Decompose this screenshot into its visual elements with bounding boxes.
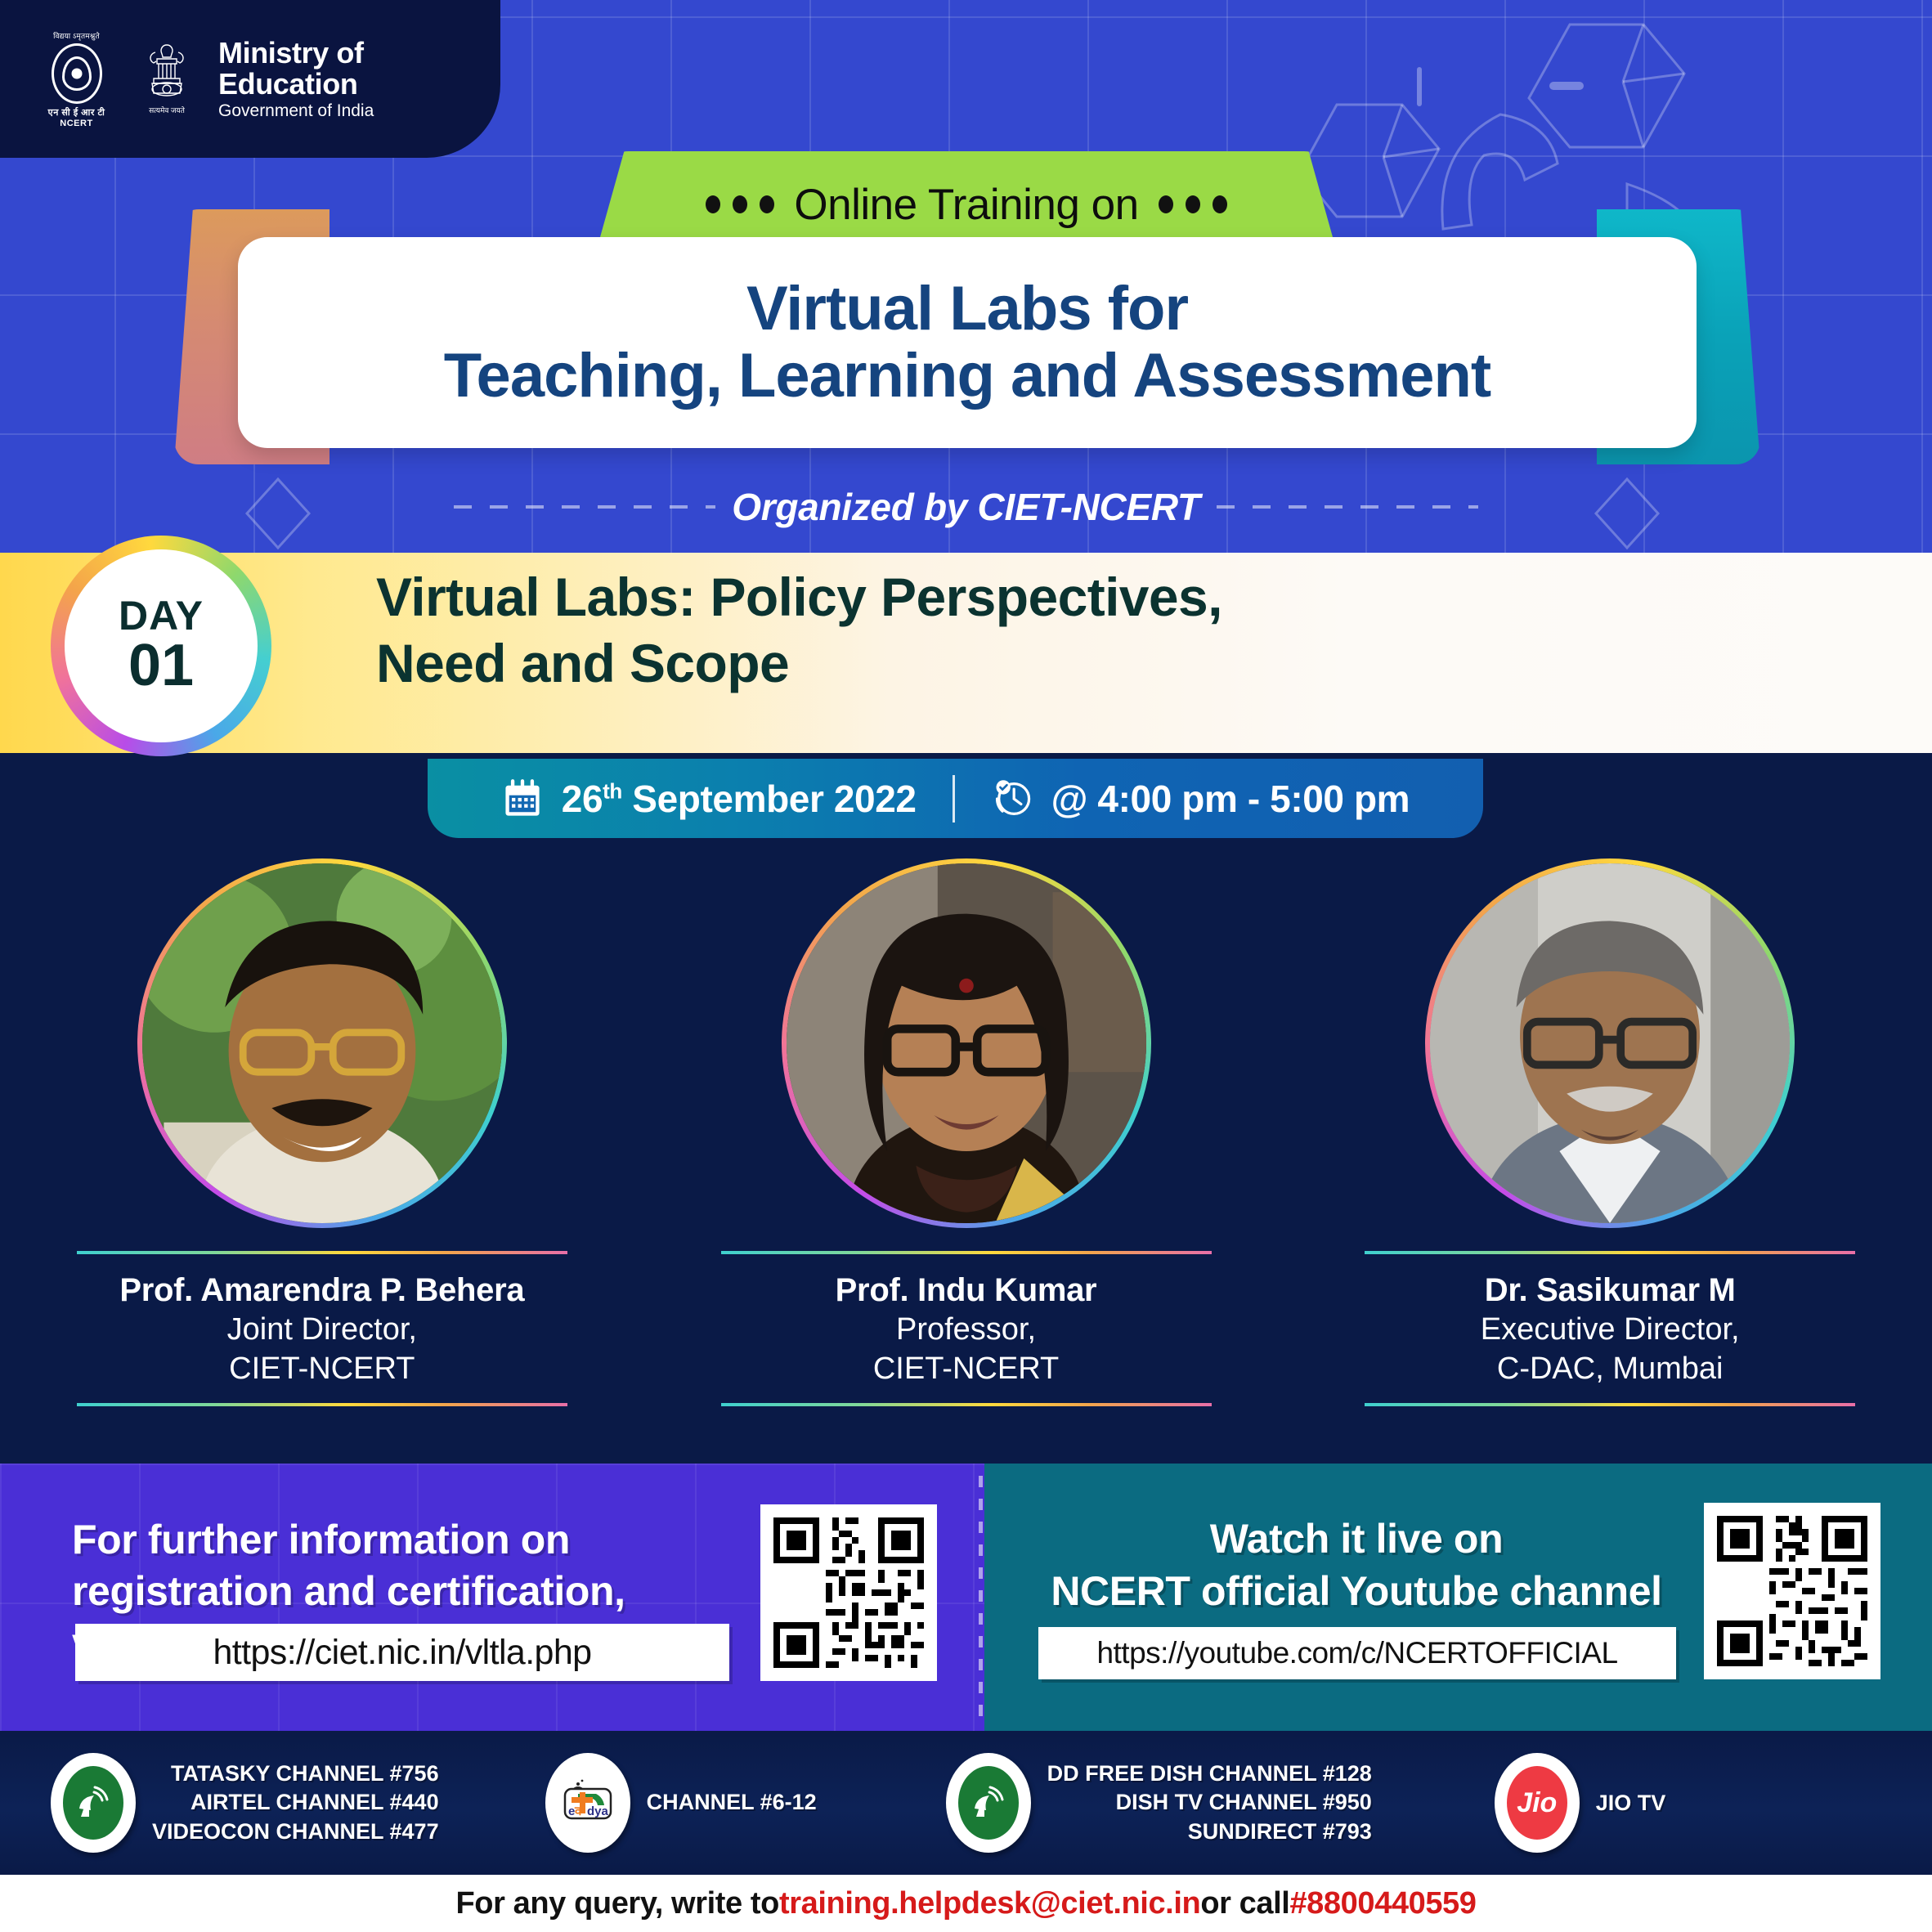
query-prefix: For any query, write to bbox=[455, 1886, 779, 1921]
channel-lines: DD FREE DISH CHANNEL #128 DISH TV CHANNE… bbox=[1047, 1759, 1372, 1847]
india-emblem: सत्यमेव जयते bbox=[137, 43, 197, 115]
channel-group-evidya: e व dya CHANNEL #6-12 bbox=[545, 1753, 817, 1853]
title-card-wrapper: Virtual Labs for Teaching, Learning and … bbox=[174, 209, 1760, 464]
channel-line: JIO TV bbox=[1596, 1791, 1666, 1816]
qr-code-icon[interactable] bbox=[760, 1504, 937, 1681]
poster-root: विद्यया ऽमृतमश्नुते एन सी ई आर टी NCERT bbox=[0, 0, 1932, 1932]
speaker-role-line-2: C-DAC, Mumbai bbox=[1497, 1350, 1724, 1387]
ncert-tagline: विद्यया ऽमृतमश्नुते bbox=[53, 30, 100, 41]
registration-heading-line-1: For further information on bbox=[72, 1514, 726, 1566]
avatar bbox=[787, 863, 1146, 1223]
registration-url-box[interactable]: https://ciet.nic.in/vltla.php bbox=[75, 1624, 729, 1681]
speaker-card: Prof. Indu Kumar Professor, CIET-NCERT bbox=[644, 858, 1289, 1464]
channel-line: VIDEOCON CHANNEL #477 bbox=[152, 1818, 439, 1847]
youtube-heading-line-2: NCERT official Youtube channel bbox=[1017, 1565, 1696, 1617]
speaker-role-line-2: CIET-NCERT bbox=[229, 1350, 415, 1387]
decor-pill bbox=[1549, 82, 1584, 90]
ncert-emblem-icon bbox=[52, 43, 102, 104]
speaker-divider-top bbox=[721, 1251, 1212, 1254]
decor-pill bbox=[1417, 67, 1422, 106]
channels-strip: TATASKY CHANNEL #756 AIRTEL CHANNEL #440… bbox=[0, 1731, 1932, 1875]
speaker-divider-bottom bbox=[721, 1403, 1212, 1406]
speaker-photo-ring bbox=[782, 858, 1151, 1228]
svg-text:व: व bbox=[574, 1804, 582, 1818]
registration-url[interactable]: https://ciet.nic.in/vltla.php bbox=[213, 1633, 591, 1673]
title-line-2: Teaching, Learning and Assessment bbox=[444, 343, 1490, 410]
channel-group-tatasky: TATASKY CHANNEL #756 AIRTEL CHANNEL #440… bbox=[51, 1753, 439, 1853]
speaker-card: Prof. Amarendra P. Behera Joint Director… bbox=[0, 858, 644, 1464]
qr-code-icon[interactable] bbox=[1704, 1503, 1880, 1679]
speaker-divider-top bbox=[77, 1251, 567, 1254]
youtube-url-box[interactable]: https://youtube.com/c/NCERTOFFICIAL bbox=[1038, 1627, 1676, 1679]
helpdesk-email[interactable]: training.helpdesk@ciet.nic.in bbox=[779, 1886, 1200, 1921]
ministry-line-2: Education bbox=[218, 69, 374, 100]
speaker-role-line-1: Executive Director, bbox=[1481, 1311, 1740, 1348]
channel-line: DISH TV CHANNEL #950 bbox=[1047, 1788, 1372, 1818]
ministry-text: Ministry of Education Government of Indi… bbox=[218, 38, 374, 120]
ministry-line-1: Ministry of bbox=[218, 38, 374, 69]
organizer-dash-left bbox=[454, 505, 715, 509]
query-middle: or call bbox=[1200, 1886, 1289, 1921]
channel-line: AIRTEL CHANNEL #440 bbox=[152, 1788, 439, 1818]
day-label: DAY bbox=[119, 595, 204, 636]
title-line-1: Virtual Labs for bbox=[746, 276, 1188, 343]
avatar bbox=[1430, 863, 1790, 1223]
satellite-dish-icon bbox=[946, 1753, 1031, 1853]
day-badge: DAY 01 bbox=[51, 536, 271, 756]
evidya-logo-icon: e व dya bbox=[545, 1753, 630, 1853]
channel-lines: TATASKY CHANNEL #756 AIRTEL CHANNEL #440… bbox=[152, 1759, 439, 1847]
ashoka-lion-capital-icon bbox=[141, 43, 192, 103]
ministry-line-3: Government of India bbox=[218, 102, 374, 120]
speaker-card: Dr. Sasikumar M Executive Director, C-DA… bbox=[1288, 858, 1932, 1464]
youtube-url[interactable]: https://youtube.com/c/NCERTOFFICIAL bbox=[1096, 1636, 1617, 1670]
channel-line: DD FREE DISH CHANNEL #128 bbox=[1047, 1759, 1372, 1789]
speaker-name: Dr. Sasikumar M bbox=[1485, 1272, 1736, 1309]
ncert-logo: विद्यया ऽमृतमश्नुते एन सी ई आर टी NCERT bbox=[38, 30, 115, 128]
speaker-role-line-1: Professor, bbox=[896, 1311, 1036, 1348]
youtube-panel: Watch it live on NCERT official Youtube … bbox=[984, 1464, 1932, 1731]
svg-text:dya: dya bbox=[587, 1804, 609, 1818]
channel-group-ddfreedish: DD FREE DISH CHANNEL #128 DISH TV CHANNE… bbox=[946, 1753, 1372, 1853]
channel-group-jiotv: Jio JIO TV bbox=[1495, 1753, 1666, 1853]
speaker-divider-bottom bbox=[1365, 1403, 1855, 1406]
youtube-heading: Watch it live on NCERT official Youtube … bbox=[1017, 1513, 1696, 1617]
calendar-icon bbox=[501, 778, 544, 820]
registration-panel: For further information on registration … bbox=[0, 1464, 984, 1731]
clock-icon bbox=[991, 778, 1033, 820]
ncert-name-hindi: एन सी ई आर टी bbox=[48, 106, 105, 119]
query-bar: For any query, write to training.helpdes… bbox=[0, 1875, 1932, 1932]
youtube-heading-line-1: Watch it live on bbox=[1017, 1513, 1696, 1565]
topic-line-1: Virtual Labs: Policy Perspectives, bbox=[376, 564, 1766, 630]
jio-wordmark: Jio bbox=[1504, 1764, 1570, 1842]
event-date: 26th September 2022 bbox=[562, 777, 917, 821]
speaker-divider-top bbox=[1365, 1251, 1855, 1254]
satellite-dish-icon bbox=[51, 1753, 136, 1853]
organizer-dash-right bbox=[1217, 505, 1478, 509]
schedule-pill: 26th September 2022 @ 4:00 pm - 5:00 pm bbox=[428, 759, 1483, 838]
date-segment: 26th September 2022 bbox=[465, 777, 953, 821]
title-card: Virtual Labs for Teaching, Learning and … bbox=[238, 237, 1697, 448]
emblem-motto: सत्यमेव जयते bbox=[149, 105, 185, 115]
ncert-name-english: NCERT bbox=[60, 119, 92, 128]
speaker-role-line-2: CIET-NCERT bbox=[873, 1350, 1059, 1387]
speaker-role-line-1: Joint Director, bbox=[227, 1311, 417, 1348]
ministry-header-block: विद्यया ऽमृतमश्नुते एन सी ई आर टी NCERT bbox=[0, 0, 500, 158]
speakers-row: Prof. Amarendra P. Behera Joint Director… bbox=[0, 858, 1932, 1464]
channel-line: TATASKY CHANNEL #756 bbox=[152, 1759, 439, 1789]
day-badge-inner: DAY 01 bbox=[65, 549, 258, 742]
time-segment: @ 4:00 pm - 5:00 pm bbox=[955, 777, 1446, 821]
channel-lines: CHANNEL #6-12 bbox=[647, 1788, 817, 1818]
channel-line: SUNDIRECT #793 bbox=[1047, 1818, 1372, 1847]
speaker-divider-bottom bbox=[77, 1403, 567, 1406]
jio-logo-icon: Jio bbox=[1495, 1753, 1580, 1853]
speaker-photo-ring bbox=[137, 858, 507, 1228]
speaker-name: Prof. Amarendra P. Behera bbox=[119, 1272, 524, 1309]
topic-line-2: Need and Scope bbox=[376, 630, 1766, 697]
speaker-photo-ring bbox=[1425, 858, 1795, 1228]
avatar bbox=[142, 863, 502, 1223]
day-number: 01 bbox=[128, 636, 194, 696]
event-time: @ 4:00 pm - 5:00 pm bbox=[1051, 777, 1410, 821]
session-topic: Virtual Labs: Policy Perspectives, Need … bbox=[376, 564, 1766, 696]
helpdesk-phone[interactable]: #8800440559 bbox=[1289, 1886, 1476, 1921]
organizer-row: Organized by CIET-NCERT bbox=[0, 478, 1932, 536]
speaker-name: Prof. Indu Kumar bbox=[836, 1272, 1097, 1309]
organizer-text: Organized by CIET-NCERT bbox=[715, 485, 1216, 529]
channel-line: CHANNEL #6-12 bbox=[647, 1788, 817, 1818]
